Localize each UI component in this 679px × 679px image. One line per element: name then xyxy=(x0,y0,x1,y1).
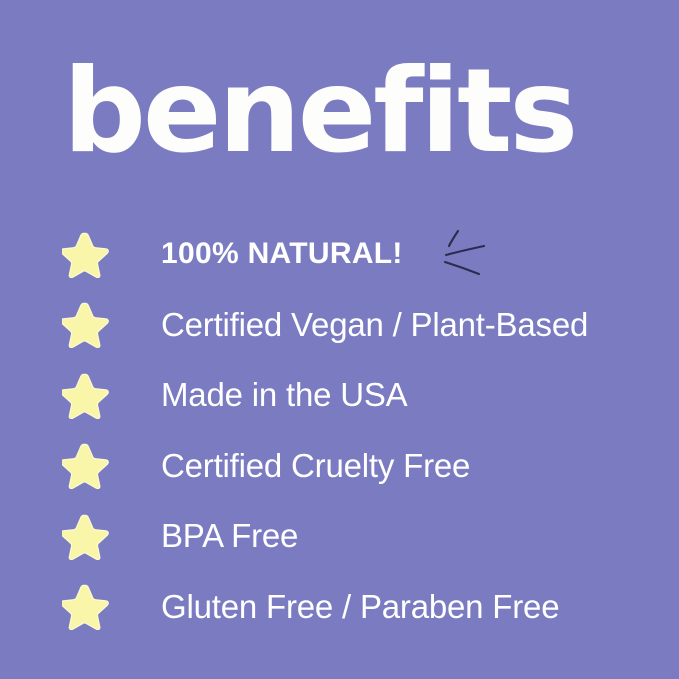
benefits-poster: benefits 100% NATURAL!Certified Vegan / … xyxy=(0,0,679,679)
page-title: benefits xyxy=(63,52,623,172)
star-icon xyxy=(62,231,109,278)
benefit-row: BPA Free xyxy=(0,501,679,571)
benefit-label: BPA Free xyxy=(161,517,298,555)
benefit-row: 100% NATURAL! xyxy=(0,219,679,289)
benefit-label: 100% NATURAL! xyxy=(161,235,403,273)
benefit-label: Made in the USA xyxy=(161,376,407,414)
star-icon xyxy=(62,583,109,630)
benefit-label: Gluten Free / Paraben Free xyxy=(161,588,559,626)
benefit-row: Made in the USA xyxy=(0,360,679,430)
benefit-label: Certified Cruelty Free xyxy=(161,447,470,485)
star-icon xyxy=(62,372,109,419)
emphasis-burst-icon xyxy=(441,226,493,280)
benefit-row: Gluten Free / Paraben Free xyxy=(0,572,679,642)
benefit-row: Certified Vegan / Plant-Based xyxy=(0,290,679,360)
star-icon xyxy=(62,442,109,489)
benefits-list: 100% NATURAL!Certified Vegan / Plant-Bas… xyxy=(0,219,679,659)
star-icon xyxy=(62,301,109,348)
star-icon xyxy=(62,513,109,560)
benefit-row: Certified Cruelty Free xyxy=(0,431,679,501)
benefit-label: Certified Vegan / Plant-Based xyxy=(161,306,588,344)
